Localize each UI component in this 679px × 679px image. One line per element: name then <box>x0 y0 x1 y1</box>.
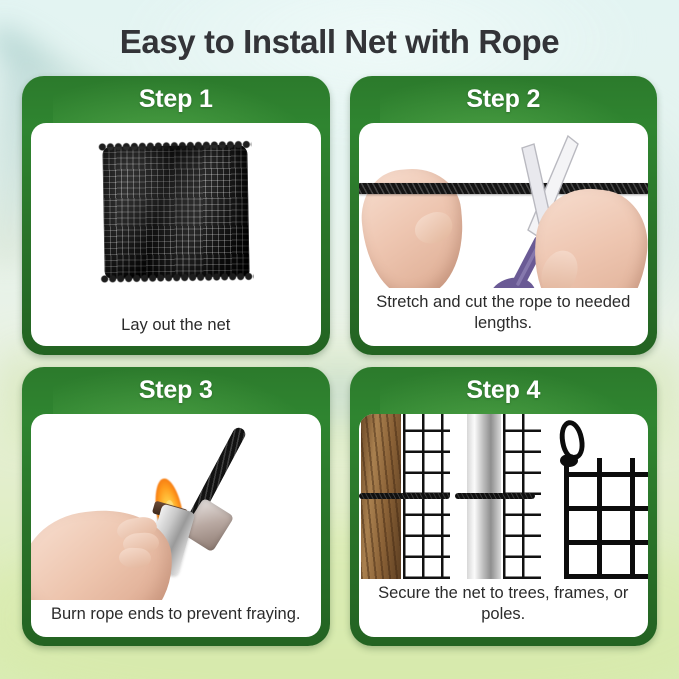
step-1-body: Lay out the net <box>31 123 321 346</box>
step-1-figure <box>31 123 321 311</box>
left-hand-thumb <box>410 208 456 250</box>
step-card-1: Step 1 Lay out the net <box>22 76 330 355</box>
step-3-body: Burn rope ends to prevent fraying. <box>31 414 321 637</box>
mount-example-tree <box>359 414 451 579</box>
page-title: Easy to Install Net with Rope <box>22 0 657 76</box>
step-2-figure <box>359 123 649 288</box>
tie-rope <box>359 493 451 499</box>
step-2-body: Stretch and cut the rope to needed lengt… <box>359 123 649 346</box>
step-1-header: Step 1 <box>31 76 321 123</box>
step-card-2: Step 2 <box>350 76 658 355</box>
step-3-caption: Burn rope ends to prevent fraying. <box>31 600 321 637</box>
step-3-figure <box>31 414 321 600</box>
step-1-caption: Lay out the net <box>31 311 321 346</box>
step-4-figure <box>359 414 649 579</box>
finger <box>119 548 152 569</box>
step-2-caption: Stretch and cut the rope to needed lengt… <box>359 288 649 346</box>
mount-example-loop <box>544 414 648 579</box>
net-fold-shading <box>102 145 249 280</box>
step-card-4: Step 4 <box>350 367 658 646</box>
mount-example-pole <box>453 414 541 579</box>
infographic-page: Easy to Install Net with Rope Step 1 Lay… <box>0 0 679 679</box>
folded-net-icon <box>102 145 249 280</box>
tie-rope <box>455 493 535 499</box>
step-card-3: Step 3 Burn rope ends to prevent fraying… <box>22 367 330 646</box>
step-3-header: Step 3 <box>31 367 321 414</box>
right-hand-thumb <box>535 246 583 288</box>
step-4-body: Secure the net to trees, frames, or pole… <box>359 414 649 637</box>
step-4-header: Step 4 <box>359 367 649 414</box>
net-mesh <box>564 458 648 579</box>
step-2-header: Step 2 <box>359 76 649 123</box>
steps-grid: Step 1 Lay out the net Step 2 <box>22 76 657 646</box>
step-4-caption: Secure the net to trees, frames, or pole… <box>359 579 649 637</box>
mounting-examples-row <box>359 414 649 579</box>
